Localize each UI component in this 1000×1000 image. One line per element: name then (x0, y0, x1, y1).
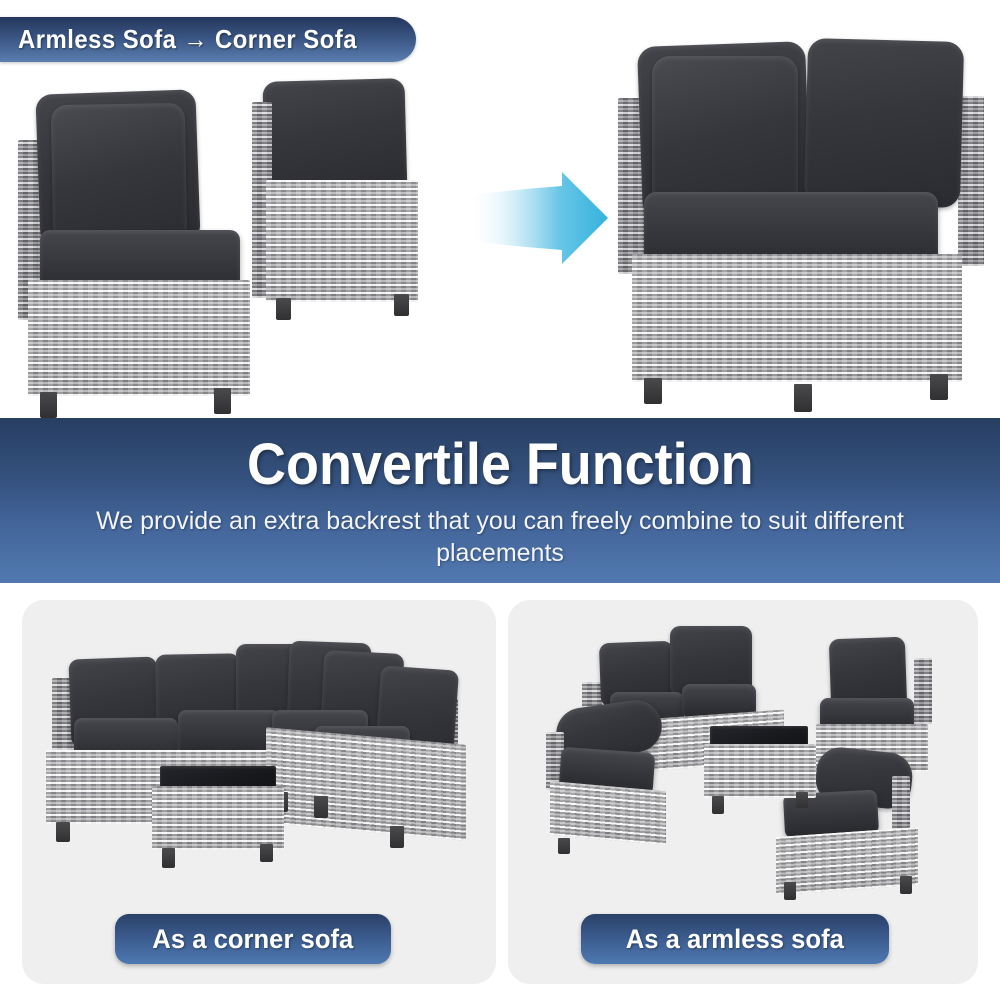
conversion-badge-label: Armless Sofa → Corner Sofa (18, 24, 357, 55)
caption-armless-sofa: As a armless sofa (581, 914, 889, 964)
sectional-base-right (266, 727, 466, 840)
armless-module-front (18, 92, 318, 412)
conversion-badge: Armless Sofa → Corner Sofa (0, 17, 416, 62)
table-leg (796, 792, 808, 808)
corner-sofa-panel: As a corner sofa (22, 600, 496, 984)
module-leg (394, 294, 409, 316)
chair-base (776, 827, 918, 895)
transition-arrow (466, 168, 610, 268)
chair-side-panel (914, 658, 932, 724)
chair-base (550, 781, 666, 845)
table-leg (162, 848, 175, 868)
top-comparison-section: Armless Sofa → Corner Sofa (0, 0, 1000, 418)
backrest-cushion-right (804, 38, 964, 208)
caption-corner-sofa: As a corner sofa (115, 914, 391, 964)
armless-chair-left (546, 704, 682, 848)
separate-pieces-photo (508, 600, 978, 910)
module-base (28, 280, 250, 396)
sectional-leg (390, 826, 404, 848)
backrest-cushion-front (51, 103, 187, 245)
table-leg (712, 796, 724, 814)
sectional-leg (56, 822, 70, 842)
chair-leg (784, 882, 796, 900)
coffee-table (148, 766, 288, 870)
coffee-table (700, 726, 822, 820)
product-infographic: Armless Sofa → Corner Sofa (0, 0, 1000, 1000)
armless-sofa-panel: As a armless sofa (508, 600, 978, 984)
corner-sofa-photo (608, 22, 1000, 418)
module-leg (214, 388, 231, 414)
sectional-arrangement-photo (22, 600, 496, 910)
sectional-leg (314, 796, 328, 818)
caption-corner-sofa-label: As a corner sofa (152, 924, 353, 955)
banner-title: Convertile Function (247, 436, 753, 494)
corner-leg (930, 374, 948, 400)
chair-leg (558, 838, 570, 854)
headline-banner: Convertile Function We provide an extra … (0, 418, 1000, 583)
caption-armless-sofa-label: As a armless sofa (626, 924, 844, 955)
module-leg (40, 392, 57, 418)
chair-leg (900, 876, 912, 894)
corner-leg (794, 384, 812, 412)
armless-sofa-photo (0, 62, 460, 418)
right-arrow-icon (466, 168, 610, 268)
table-body (152, 786, 284, 850)
banner-subtitle: We provide an extra backrest that you ca… (50, 506, 950, 569)
table-body (704, 744, 816, 798)
table-leg (260, 844, 273, 862)
corner-leg (644, 378, 662, 404)
corner-base (632, 254, 962, 382)
